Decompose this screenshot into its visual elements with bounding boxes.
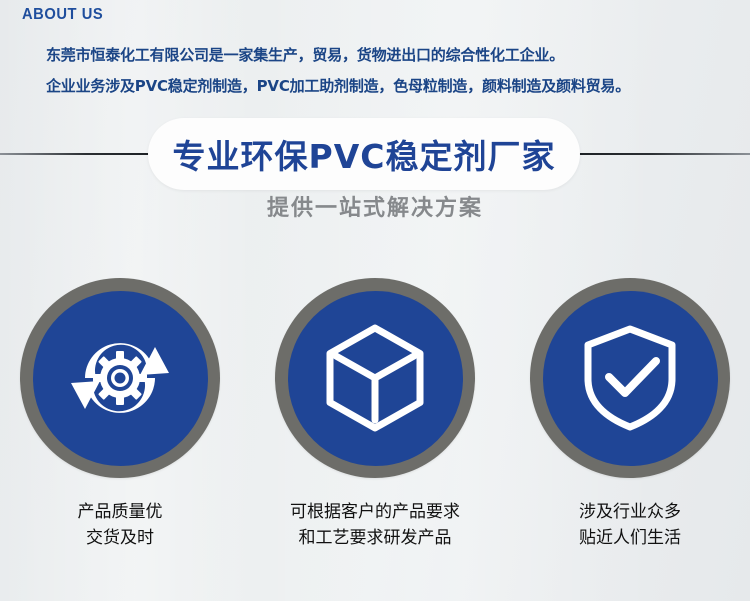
feature-circle-ring-1 (20, 278, 220, 478)
intro-line-2: 企业业务涉及PVC稳定剂制造，PVC加工助剂制造，色母粒制造，颜料制造及颜料贸易… (46, 71, 726, 102)
feature-circle-fill-2 (288, 291, 463, 466)
shield-check-icon (571, 319, 689, 437)
feature-caption-3-line2: 贴近人们生活 (579, 525, 681, 551)
intro-paragraph: 东莞市恒泰化工有限公司是一家集生产，贸易，货物进出口的综合性化工企业。 企业业务… (46, 40, 726, 102)
gear-recycle-arrows-icon (59, 317, 181, 439)
feature-item-industries: 涉及行业众多 贴近人们生活 (523, 278, 738, 551)
banner-subtitle: 提供一站式解决方案 (0, 190, 750, 222)
feature-item-customization: 可根据客户的产品要求 和工艺要求研发产品 (268, 278, 483, 551)
feature-caption-3: 涉及行业众多 贴近人们生活 (579, 499, 681, 551)
feature-circle-ring-2 (275, 278, 475, 478)
cube-box-icon (316, 319, 434, 437)
banner: 专业环保PVC稳定剂厂家 (0, 118, 750, 190)
feature-circle-fill-3 (543, 291, 718, 466)
feature-list: 产品质量优 交货及时 可根据 (0, 278, 750, 551)
feature-circle-fill-1 (33, 291, 208, 466)
intro-line-1: 东莞市恒泰化工有限公司是一家集生产，贸易，货物进出口的综合性化工企业。 (46, 40, 726, 71)
feature-caption-1-line2: 交货及时 (78, 525, 163, 551)
about-us-section: ABOUT US 东莞市恒泰化工有限公司是一家集生产，贸易，货物进出口的综合性化… (0, 0, 750, 601)
feature-caption-1: 产品质量优 交货及时 (78, 499, 163, 551)
banner-title: 专业环保PVC稳定剂厂家 (173, 130, 556, 178)
feature-caption-2: 可根据客户的产品要求 和工艺要求研发产品 (290, 499, 460, 551)
feature-caption-1-line1: 产品质量优 (78, 499, 163, 525)
feature-circle-ring-3 (530, 278, 730, 478)
banner-rule-left (0, 153, 155, 155)
banner-pill: 专业环保PVC稳定剂厂家 (148, 118, 580, 190)
feature-caption-2-line2: 和工艺要求研发产品 (290, 525, 460, 551)
section-eyebrow: ABOUT US (22, 6, 103, 24)
feature-item-quality: 产品质量优 交货及时 (13, 278, 228, 551)
feature-caption-3-line1: 涉及行业众多 (579, 499, 681, 525)
banner-rule-right (570, 153, 750, 155)
feature-caption-2-line1: 可根据客户的产品要求 (290, 499, 460, 525)
